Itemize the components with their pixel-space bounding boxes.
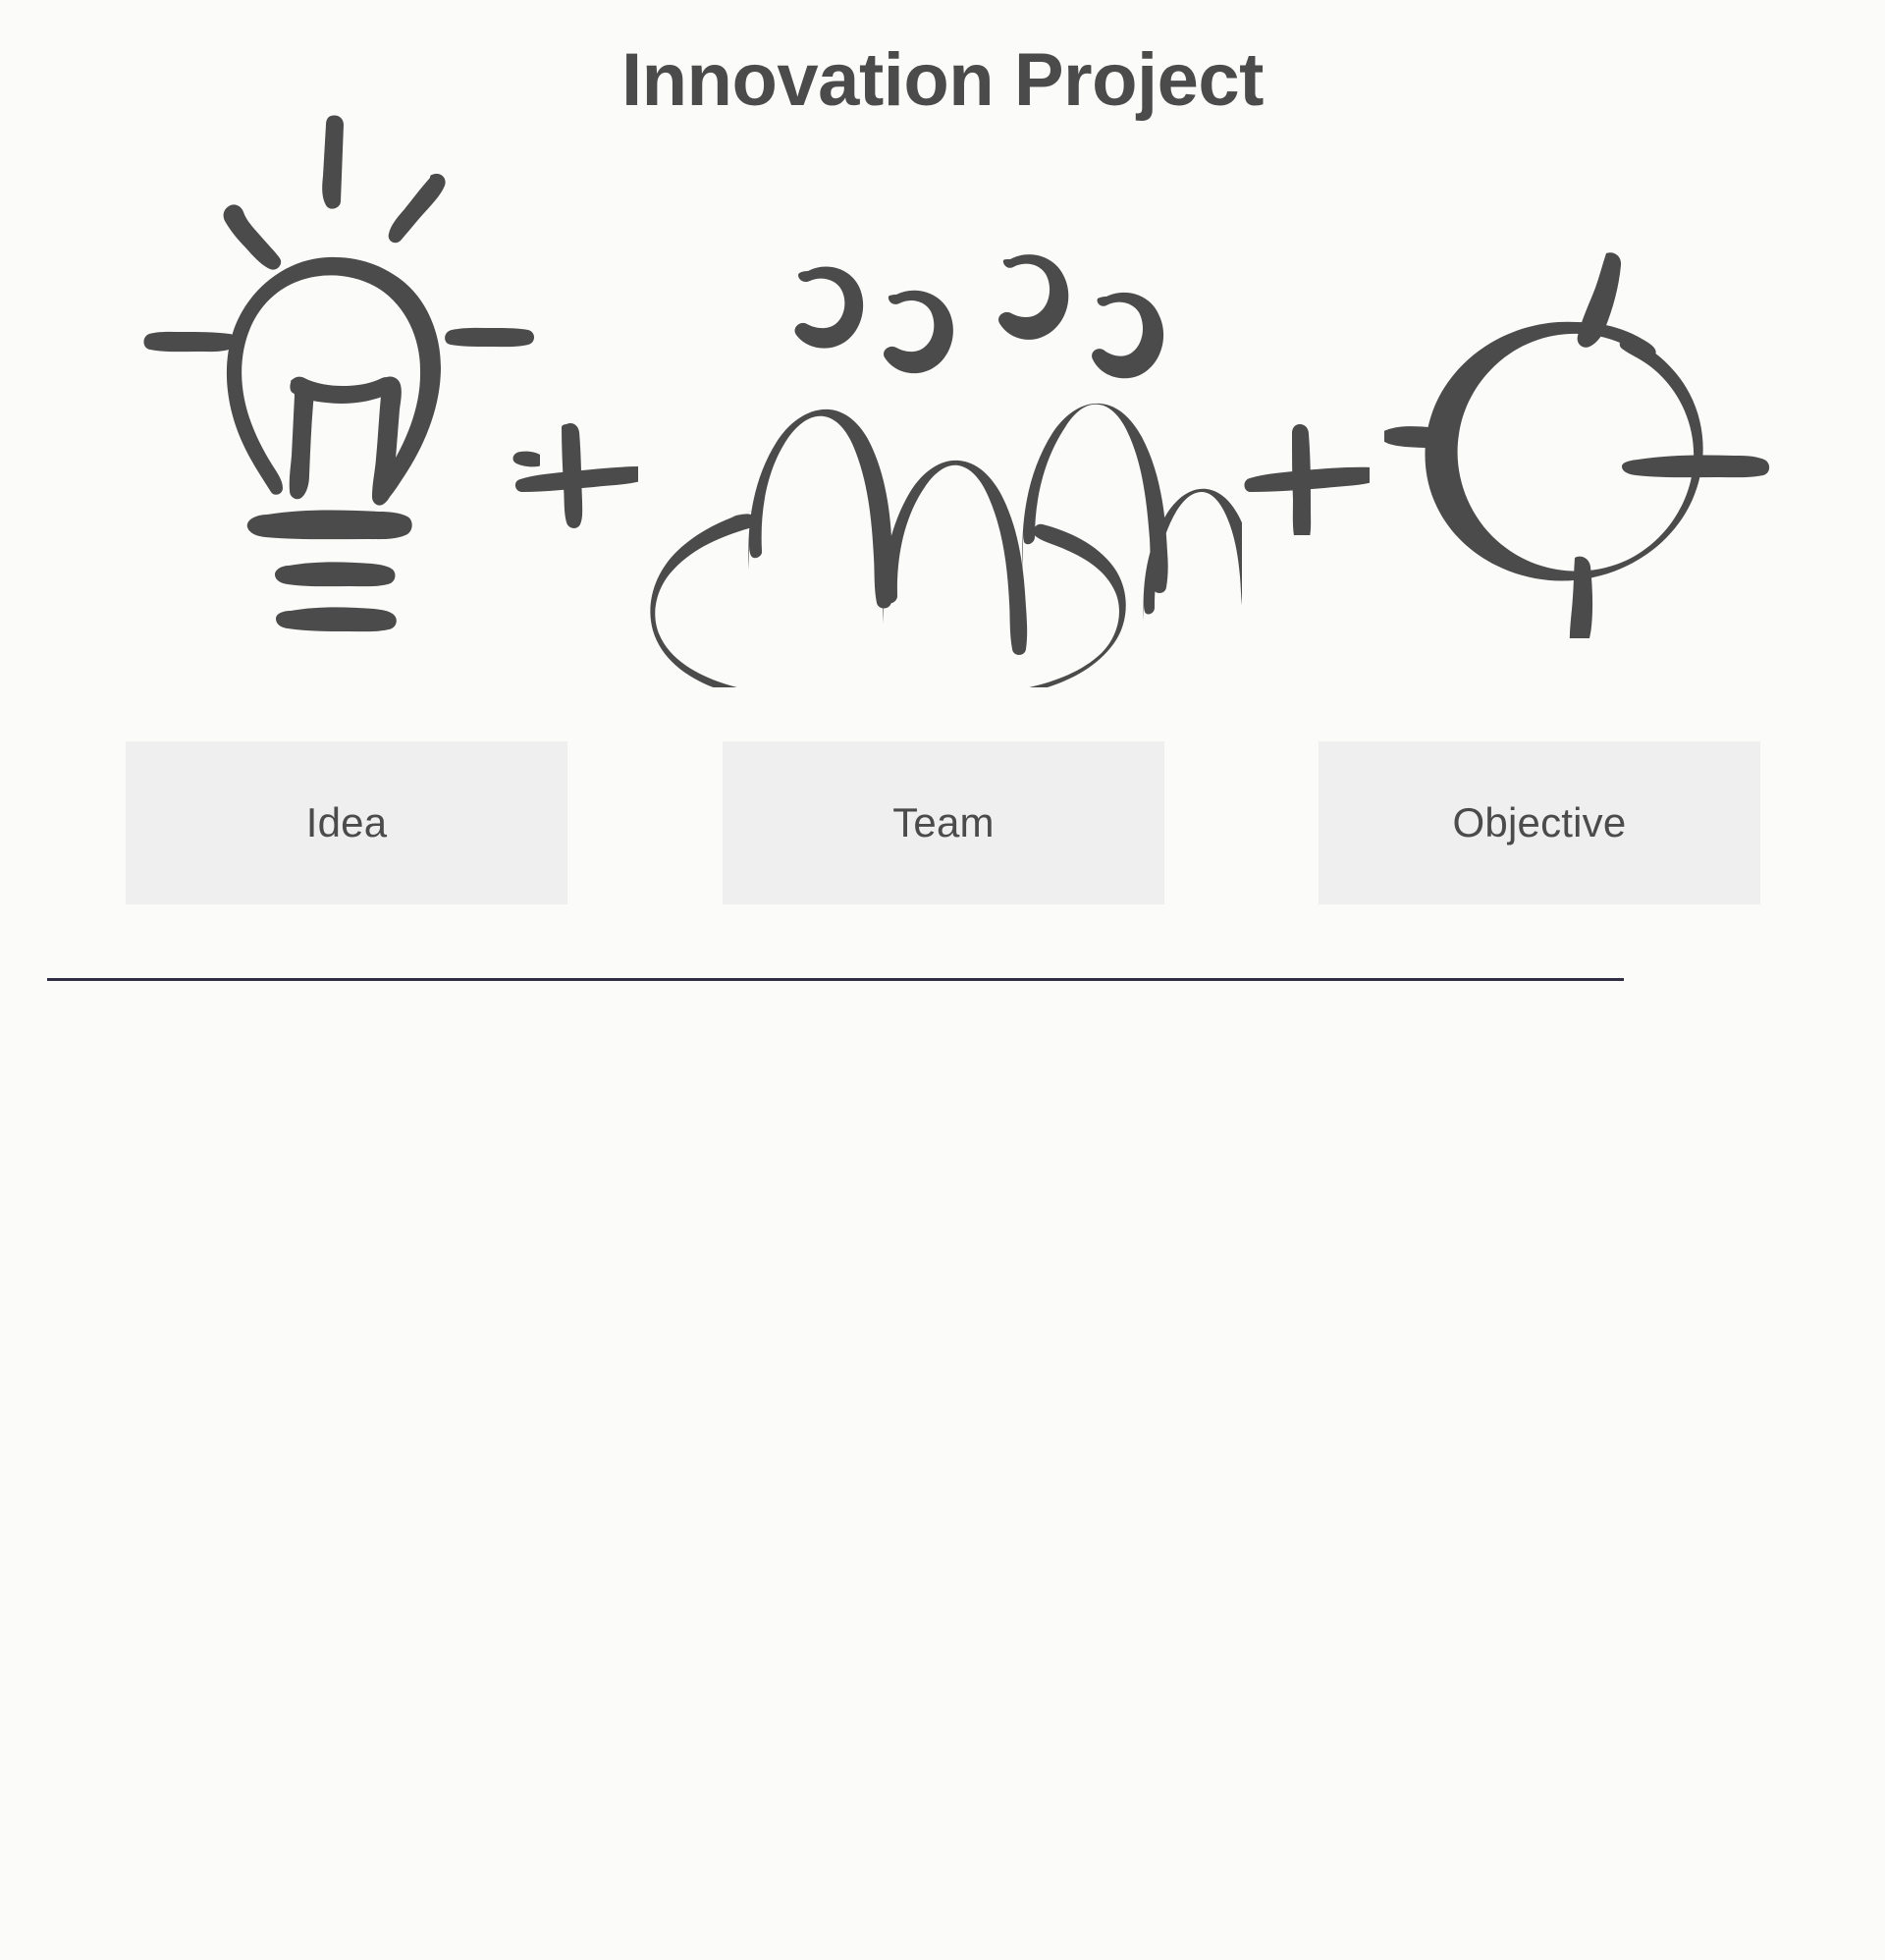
target-crosshair-icon <box>1384 245 1777 638</box>
label-text-objective: Objective <box>1453 799 1627 846</box>
label-box-idea[interactable]: Idea <box>126 741 567 904</box>
lightbulb-icon <box>128 108 540 638</box>
label-box-objective[interactable]: Objective <box>1319 741 1760 904</box>
slide-canvas: Innovation Project <box>0 0 1885 1061</box>
team-icon <box>633 245 1242 687</box>
plus-operator-icon <box>1242 408 1370 535</box>
brand-logo: BRUNO PESEC <box>1627 935 1853 1025</box>
label-text-team: Team <box>892 799 995 846</box>
label-box-team[interactable]: Team <box>723 741 1164 904</box>
footer-divider <box>47 978 1624 981</box>
label-text-idea: Idea <box>306 799 388 846</box>
plus-operator-icon <box>511 412 638 540</box>
